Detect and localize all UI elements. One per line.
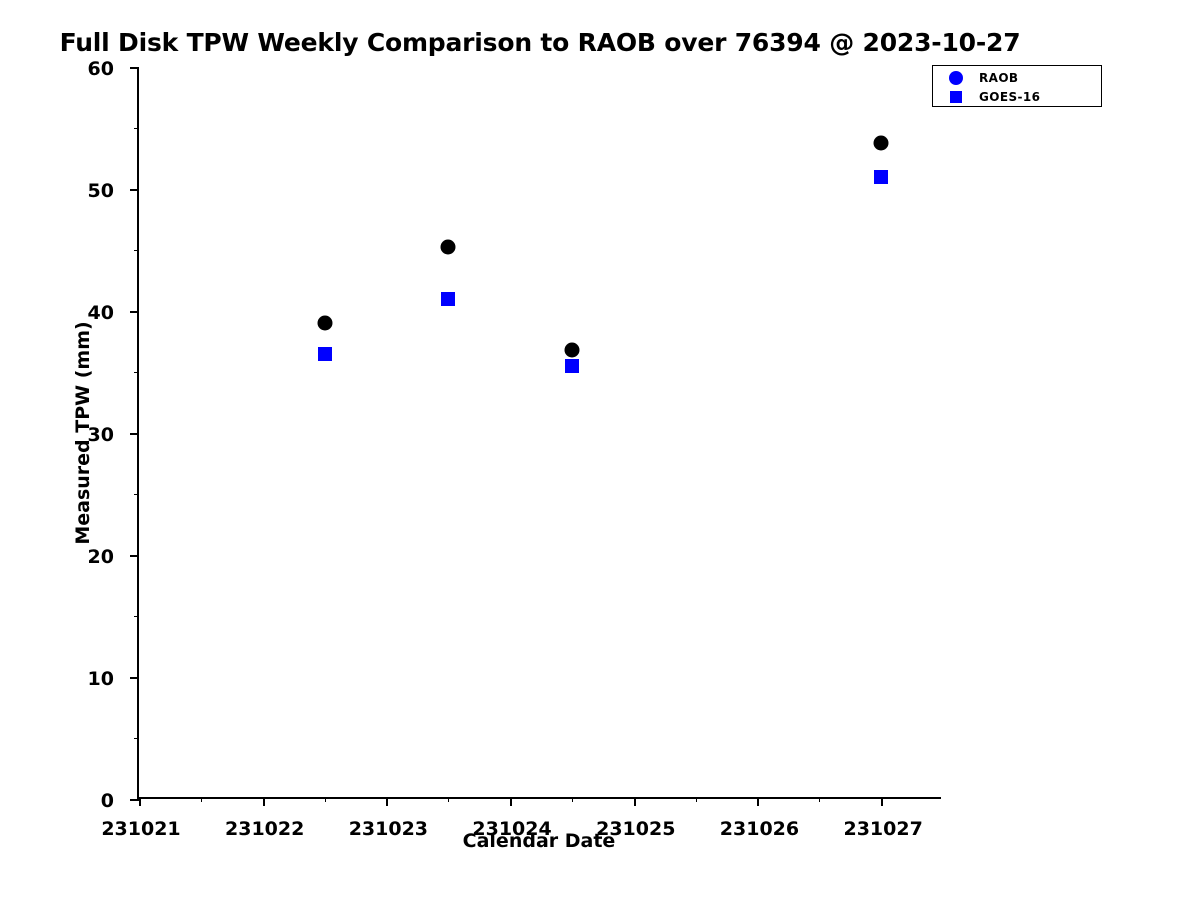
data-point-raob xyxy=(564,343,579,358)
data-point-goes-16 xyxy=(565,359,579,373)
x-tick-minor xyxy=(201,797,202,802)
x-tick-mark: 231023 xyxy=(386,797,388,806)
data-point-raob xyxy=(874,135,889,150)
y-tick-label: 0 xyxy=(101,790,114,812)
x-tick-mark: 231026 xyxy=(757,797,759,806)
y-tick-mark: 10 xyxy=(130,677,139,679)
y-tick-minor xyxy=(134,372,139,373)
y-tick-mark: 20 xyxy=(130,555,139,557)
x-tick-mark: 231021 xyxy=(139,797,141,806)
legend-item-raob: RAOB xyxy=(933,68,1101,87)
y-tick-mark: 50 xyxy=(130,189,139,191)
y-tick-mark: 60 xyxy=(130,67,139,69)
y-tick-minor xyxy=(134,616,139,617)
legend-swatch xyxy=(933,91,979,103)
data-point-raob xyxy=(441,239,456,254)
y-tick-mark: 40 xyxy=(130,311,139,313)
x-tick-mark: 231027 xyxy=(881,797,883,806)
y-tick-mark: 0 xyxy=(130,799,139,801)
page-title: Full Disk TPW Weekly Comparison to RAOB … xyxy=(0,28,1080,57)
y-tick-minor xyxy=(134,128,139,129)
y-tick-minor xyxy=(134,494,139,495)
chart-legend: RAOBGOES-16 xyxy=(932,65,1102,107)
data-point-raob xyxy=(317,316,332,331)
y-axis-label: Measured TPW (mm) xyxy=(72,67,94,799)
x-tick-minor xyxy=(448,797,449,802)
x-tick-minor xyxy=(819,797,820,802)
data-point-goes-16 xyxy=(318,347,332,361)
y-tick-minor xyxy=(134,250,139,251)
x-tick-minor xyxy=(696,797,697,802)
legend-swatch xyxy=(933,71,979,85)
y-tick-minor xyxy=(134,738,139,739)
x-tick-minor xyxy=(572,797,573,802)
circle-marker-icon xyxy=(949,71,963,85)
data-point-goes-16 xyxy=(874,170,888,184)
x-tick-mark: 231025 xyxy=(634,797,636,806)
x-axis-label: Calendar Date xyxy=(137,830,941,852)
data-point-goes-16 xyxy=(441,292,455,306)
x-tick-mark: 231024 xyxy=(510,797,512,806)
x-tick-mark: 231022 xyxy=(263,797,265,806)
legend-label: RAOB xyxy=(979,71,1018,85)
y-tick-mark: 30 xyxy=(130,433,139,435)
legend-item-goes-16: GOES-16 xyxy=(933,87,1101,106)
x-tick-minor xyxy=(325,797,326,802)
square-marker-icon xyxy=(950,91,962,103)
plot-area: 0102030405060 23102123102223102323102423… xyxy=(137,67,941,799)
scatter-chart-figure: Full Disk TPW Weekly Comparison to RAOB … xyxy=(0,0,1200,900)
legend-label: GOES-16 xyxy=(979,90,1040,104)
